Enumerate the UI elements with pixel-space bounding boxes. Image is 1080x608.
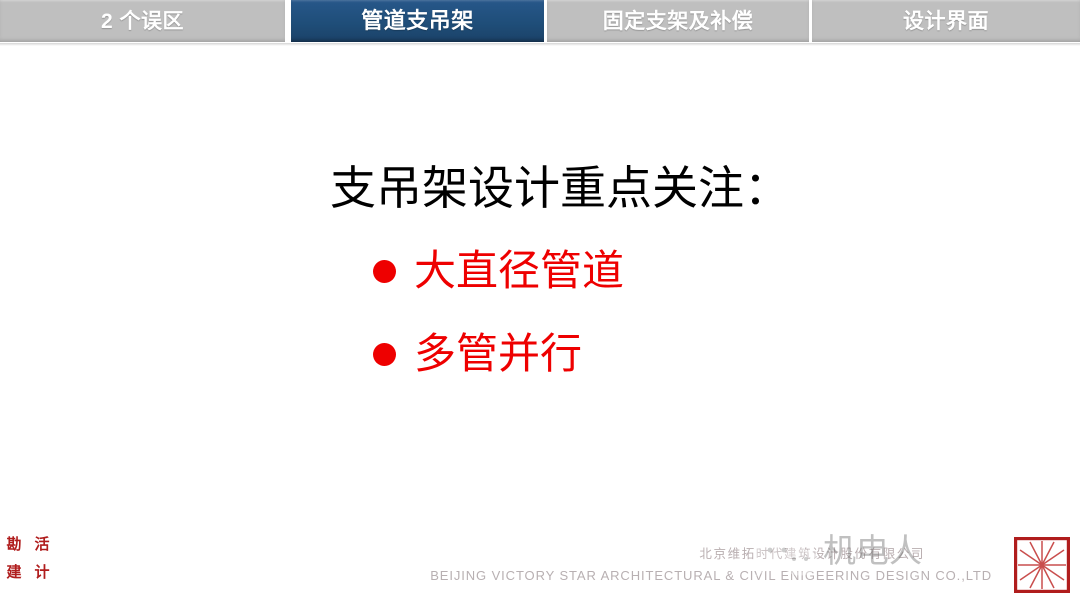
tab-pipe-supports-hangers[interactable]: 管道支吊架 xyxy=(288,0,547,42)
tab-2-misconceptions[interactable]: 2 个误区 xyxy=(0,0,288,42)
seal-char: 计 xyxy=(34,565,49,580)
company-name-en: BEIJING VICTORY STAR ARCHITECTURAL & CIV… xyxy=(430,568,992,583)
bullet-label: 大直径管道 xyxy=(414,250,624,292)
tab-design-interface[interactable]: 设计界面 xyxy=(812,0,1080,42)
bullet-label: 多管并行 xyxy=(414,333,582,375)
seal-char: 建 xyxy=(6,565,21,580)
tab-label: 2 个误区 xyxy=(101,11,184,32)
seal-char: 活 xyxy=(34,537,49,552)
page-title: 支吊架设计重点关注： xyxy=(330,163,790,214)
tab-label: 固定支架及补偿 xyxy=(603,11,754,32)
tab-fixed-supports-compensation[interactable]: 固定支架及补偿 xyxy=(547,0,812,42)
company-name-cn: 北京维拓时代建筑设计股份有限公司 xyxy=(699,543,925,562)
tab-label: 管道支吊架 xyxy=(361,10,474,32)
bullet-dot-icon xyxy=(373,260,396,283)
section-tabbar: 2 个误区 管道支吊架 固定支架及补偿 设计界面 xyxy=(0,0,1080,45)
seal-char: 勘 xyxy=(6,537,21,552)
slide-content: 支吊架设计重点关注： 大直径管道 多管并行 xyxy=(0,45,1080,535)
bullet-item: 大直径管道 xyxy=(373,250,624,292)
company-seal-text: 勘 活 建 计 xyxy=(0,530,56,586)
bullet-item: 多管并行 xyxy=(373,333,582,375)
bullet-dot-icon xyxy=(373,343,396,366)
footer-branding: 北京维拓时代建筑设计股份有限公司 BEIJING VICTORY STAR AR… xyxy=(0,530,1080,608)
tab-label: 设计界面 xyxy=(903,11,989,32)
company-seal-icon xyxy=(1014,537,1070,593)
slide-canvas: 2 个误区 管道支吊架 固定支架及补偿 设计界面 支吊架设计重点关注： 大直径管… xyxy=(0,0,1080,608)
